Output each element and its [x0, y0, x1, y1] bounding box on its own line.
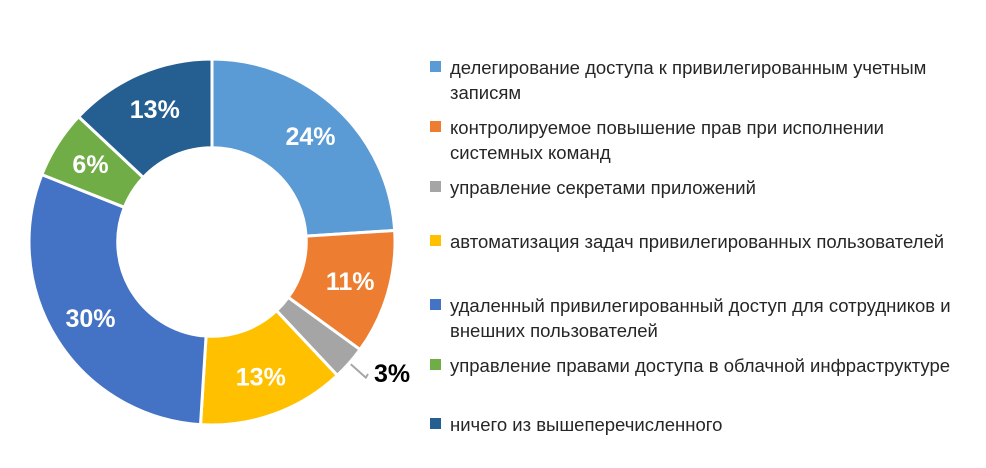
- slice-data-label: 3%: [374, 360, 410, 388]
- chart-legend: делегирование доступа к привилегированны…: [430, 55, 986, 445]
- slice-data-label: 13%: [236, 363, 286, 391]
- legend-item[interactable]: удаленный привилегированный доступ для с…: [430, 293, 975, 343]
- legend-color-swatch: [430, 359, 441, 370]
- slice-data-label: 13%: [130, 96, 180, 124]
- legend-item-label: ничего из вышеперечисленного: [450, 412, 975, 437]
- slice-data-label: 6%: [72, 151, 108, 179]
- legend-color-swatch: [430, 181, 441, 192]
- donut-plot-area: 24%11%3%13%30%6%13%: [0, 0, 430, 468]
- donut-svg: 24%11%3%13%30%6%13%: [0, 0, 430, 468]
- legend-item[interactable]: ничего из вышеперечисленного: [430, 412, 975, 437]
- legend-item-label: управление правами доступа в облачной ин…: [450, 353, 975, 378]
- legend-item[interactable]: контролируемое повышение прав при исполн…: [430, 115, 975, 165]
- data-label-leader-line: [351, 364, 368, 377]
- legend-color-swatch: [430, 121, 441, 132]
- slice-data-label: 30%: [65, 305, 115, 333]
- legend-item[interactable]: делегирование доступа к привилегированны…: [430, 55, 975, 105]
- legend-color-swatch: [430, 418, 441, 429]
- legend-item-label: управление секретами приложений: [450, 175, 975, 200]
- legend-item[interactable]: управление секретами приложений: [430, 175, 975, 200]
- slices-group: [29, 59, 395, 425]
- donut-slice[interactable]: [29, 175, 206, 425]
- legend-item[interactable]: автоматизация задач привилегированных по…: [430, 229, 975, 254]
- legend-color-swatch: [430, 299, 441, 310]
- legend-color-swatch: [430, 235, 441, 246]
- legend-item-label: делегирование доступа к привилегированны…: [450, 55, 975, 105]
- legend-item-label: удаленный привилегированный доступ для с…: [450, 293, 975, 343]
- legend-item-label: автоматизация задач привилегированных по…: [450, 229, 975, 254]
- slice-data-label: 24%: [285, 123, 335, 151]
- legend-item[interactable]: управление правами доступа в облачной ин…: [430, 353, 975, 378]
- slice-data-label: 11%: [326, 268, 375, 296]
- leader-lines-group: [351, 364, 368, 377]
- legend-item-label: контролируемое повышение прав при исполн…: [450, 115, 975, 165]
- donut-chart-figure: 24%11%3%13%30%6%13% делегирование доступ…: [0, 0, 986, 468]
- legend-color-swatch: [430, 61, 441, 72]
